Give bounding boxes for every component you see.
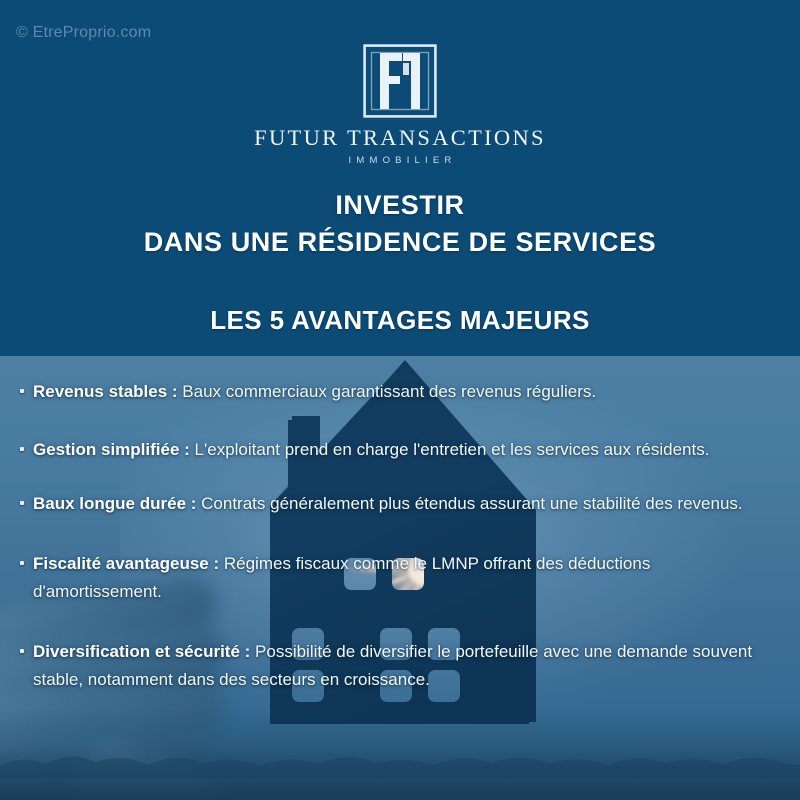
headline-line-1: INVESTIR xyxy=(0,188,800,222)
advantage-label: Diversification et sécurité : xyxy=(33,642,250,661)
advantage-body: Contrats généralement plus étendus assur… xyxy=(196,494,742,513)
headline-line-2: DANS UNE RÉSIDENCE DE SERVICES xyxy=(0,222,800,262)
headline: INVESTIR DANS UNE RÉSIDENCE DE SERVICES xyxy=(0,188,800,262)
advantage-label: Fiscalité avantageuse : xyxy=(33,554,219,573)
advantages-list: Revenus stables : Baux commerciaux garan… xyxy=(0,356,800,800)
subheadline: LES 5 AVANTAGES MAJEURS xyxy=(0,305,800,336)
advantage-text: Gestion simplifiée : L'exploitant prend … xyxy=(33,436,778,464)
bullet-dot-icon xyxy=(20,389,24,393)
list-item: Baux longue durée : Contrats généralemen… xyxy=(16,490,778,518)
list-item: Diversification et sécurité : Possibilit… xyxy=(16,638,778,694)
bullet-dot-icon xyxy=(20,501,24,505)
ft-monogram-icon xyxy=(363,44,437,118)
bullet-dot-icon xyxy=(20,561,24,565)
advantage-label: Revenus stables : xyxy=(33,382,178,401)
watermark: © EtreProprio.com xyxy=(16,24,151,42)
advantage-label: Baux longue durée : xyxy=(33,494,196,513)
list-item: Gestion simplifiée : L'exploitant prend … xyxy=(16,436,778,464)
advantage-text: Revenus stables : Baux commerciaux garan… xyxy=(33,378,778,406)
advantage-text: Diversification et sécurité : Possibilit… xyxy=(33,638,778,694)
list-item: Revenus stables : Baux commerciaux garan… xyxy=(16,378,778,406)
poster-root: © EtreProprio.com FUTUR TRANSACTIONS IMM… xyxy=(0,0,800,800)
brand-name: FUTUR TRANSACTIONS xyxy=(0,126,800,150)
advantage-label: Gestion simplifiée : xyxy=(33,440,190,459)
advantage-body: L'exploitant prend en charge l'entretien… xyxy=(190,440,710,459)
advantage-text: Fiscalité avantageuse : Régimes fiscaux … xyxy=(33,550,778,606)
brand-logo: FUTUR TRANSACTIONS IMMOBILIER xyxy=(0,44,800,166)
advantage-body: Baux commerciaux garantissant des revenu… xyxy=(178,382,597,401)
advantage-text: Baux longue durée : Contrats généralemen… xyxy=(33,490,778,518)
list-item: Fiscalité avantageuse : Régimes fiscaux … xyxy=(16,550,778,606)
brand-tagline: IMMOBILIER xyxy=(0,155,800,166)
bullet-dot-icon xyxy=(20,649,24,653)
bullet-dot-icon xyxy=(20,447,24,451)
